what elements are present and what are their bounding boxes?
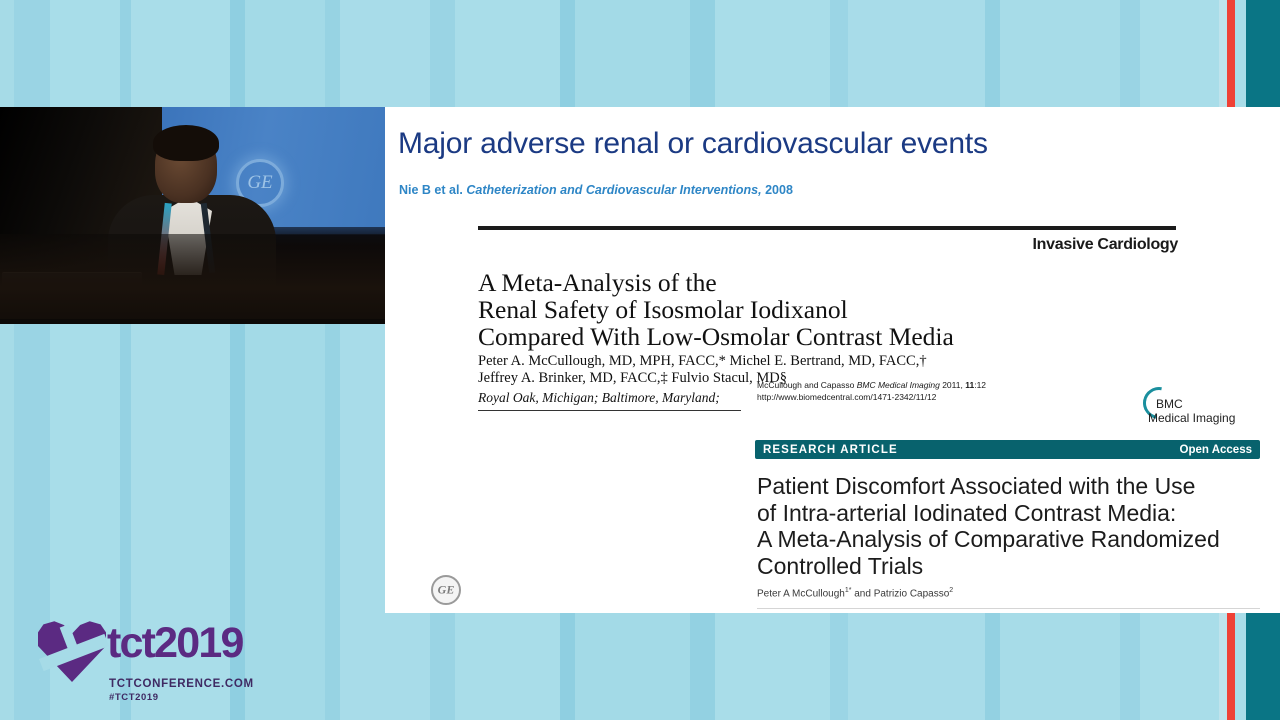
article-two-title: Patient Discomfort Associated with the U… — [757, 473, 1220, 579]
slide-title: Major adverse renal or cardiovascular ev… — [398, 127, 988, 161]
running-head-authors: McCullough and Capasso — [757, 380, 857, 390]
article-one-title-line-3: Compared With Low-Osmolar Contrast Media — [478, 323, 954, 350]
article-two-author-conjunction: and Patrizio Capasso — [851, 588, 949, 599]
article-two-running-head: McCullough and Capasso BMC Medical Imagi… — [757, 380, 986, 403]
article-two-title-line-2: of Intra-arterial Iodinated Contrast Med… — [757, 500, 1220, 527]
article-one-title: A Meta-Analysis of the Renal Safety of I… — [478, 269, 954, 350]
podium-edge — [0, 319, 385, 324]
slide-content: Major adverse renal or cardiovascular ev… — [385, 107, 1280, 613]
citation-journal: Catheterization and Cardiovascular Inter… — [466, 183, 761, 197]
open-access-label: Open Access — [1180, 444, 1252, 456]
bmc-publisher-logo: BMC Medical Imaging — [1143, 385, 1265, 429]
ge-watermark-icon — [431, 575, 461, 605]
tct-logo: tct2019 TCTCONFERENCE.COM #TCT2019 — [38, 618, 298, 700]
tct-heart-icon — [38, 620, 106, 682]
tct-wordmark: tct2019 — [107, 618, 243, 668]
article-type-bar: RESEARCH ARTICLE Open Access — [755, 440, 1260, 459]
article-type-label: RESEARCH ARTICLE — [763, 444, 898, 456]
article-two-divider — [757, 608, 1260, 609]
article-one-title-line-1: A Meta-Analysis of the — [478, 269, 954, 296]
article-one-affiliation-rule — [478, 410, 741, 411]
article-one-authors-line-1: Peter A. McCullough, MD, MPH, FACC,* Mic… — [478, 353, 927, 370]
journal-section-kicker: Invasive Cardiology — [1033, 236, 1178, 254]
speaker-video-panel[interactable] — [0, 107, 385, 324]
bmc-logo-line-1: BMC — [1156, 397, 1183, 411]
article-two-author-1: Peter A McCullough — [757, 588, 845, 599]
article-two-author-2-sup: 2 — [949, 587, 953, 594]
tct-hashtag: #TCT2019 — [109, 692, 159, 703]
citation-year: 2008 — [762, 183, 793, 197]
running-head-journal: BMC Medical Imaging — [857, 380, 940, 390]
article-one-title-line-2: Renal Safety of Isosmolar Iodixanol — [478, 296, 954, 323]
tct-website: TCTCONFERENCE.COM — [109, 678, 254, 690]
article-two-title-line-1: Patient Discomfort Associated with the U… — [757, 473, 1220, 500]
running-head-issue: :12 — [974, 380, 986, 390]
article-two-title-line-3: A Meta-Analysis of Comparative Randomize… — [757, 526, 1220, 553]
citation-prefix: Nie B et al. — [399, 183, 466, 197]
running-head-line-1: McCullough and Capasso BMC Medical Imagi… — [757, 380, 986, 392]
presentation-player: Major adverse renal or cardiovascular ev… — [0, 0, 1280, 720]
running-head-year: 2011, — [940, 380, 965, 390]
running-head-volume: 11 — [965, 380, 974, 390]
journal-rule — [478, 226, 1176, 230]
article-one-affiliation: Royal Oak, Michigan; Baltimore, Maryland… — [478, 390, 720, 406]
speaker-hair — [153, 125, 219, 161]
running-head-line-2: http://www.biomedcentral.com/1471-2342/1… — [757, 392, 986, 404]
slide-citation: Nie B et al. Catheterization and Cardiov… — [399, 183, 793, 197]
article-two-title-line-4: Controlled Trials — [757, 553, 1220, 580]
bmc-logo-line-2: Medical Imaging — [1148, 411, 1235, 425]
stage-foreground-shadow — [0, 234, 385, 324]
article-two-authors: Peter A McCullough1* and Patrizio Capass… — [757, 587, 953, 599]
